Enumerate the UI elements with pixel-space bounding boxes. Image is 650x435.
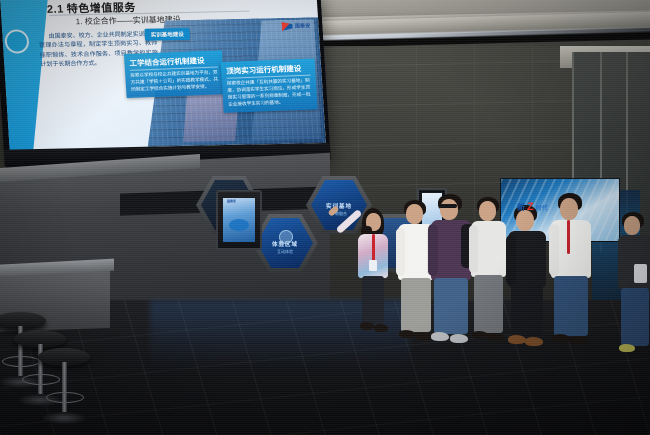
slide-card-title: 工学结合运行机制建设 (129, 55, 218, 71)
shoe (450, 334, 468, 343)
head (560, 198, 578, 220)
side-led-logo-suffix: 时代 (536, 203, 548, 212)
arm (549, 224, 559, 276)
side-led-logo: 新 Z 时代 (517, 201, 548, 213)
shoe (525, 337, 543, 346)
flag-icon (282, 22, 294, 31)
hex-panel-label: 实训基地 (311, 202, 367, 210)
head (624, 216, 640, 235)
shoe (552, 334, 570, 343)
shoe (360, 322, 374, 330)
head (516, 210, 534, 231)
shoe (399, 330, 415, 338)
head (406, 204, 423, 224)
slide-logo-text: 国泰安 (295, 22, 311, 29)
slide-tag-pill: 实训基地建设 (144, 28, 190, 41)
slide-card-gongxue: 工学结合运行机制建设 探索以学校与校企共建实训基地为平台，双方共建「学院＋公司」… (124, 50, 225, 97)
legs (621, 288, 649, 346)
shoe (508, 335, 526, 344)
legs (362, 276, 384, 324)
legs (474, 275, 503, 333)
shoe (472, 331, 488, 339)
side-led-logo-prefix: 新 (517, 202, 525, 213)
shoe (374, 324, 388, 332)
arm (506, 235, 516, 285)
arm (469, 225, 478, 273)
shoe (619, 344, 635, 352)
kiosk-display[interactable]: 国泰安 (216, 190, 262, 250)
badge (369, 260, 377, 271)
lanyard (567, 220, 570, 254)
legs (434, 278, 468, 334)
screenshot-root: 2.1特色增值服务 1. 校企合作——实训基地建设 由国泰安、校方、企业共同制定… (0, 0, 650, 435)
arm (396, 228, 405, 276)
slide-card-body: 探索校企共建「互利共赢的实习基地」制度，协调落实学生实习岗位，形成学生顶岗实习管… (227, 78, 313, 109)
arm (428, 224, 438, 276)
legs (401, 278, 431, 332)
slide-card-title: 顶岗实习运行机制建设 (226, 63, 311, 79)
presentation-slide: 2.1特色增值服务 1. 校企合作——实训基地建设 由国泰安、校方、企业共同制定… (0, 0, 326, 152)
slide-left-accent-bar (0, 0, 48, 152)
slide-card-dinggang: 顶岗实习运行机制建设 探索校企共建「互利共赢的实习基地」制度，协调落实学生实习岗… (221, 58, 318, 112)
slide-logo: 国泰安 (282, 21, 311, 31)
slide-card-body: 探索以学校与校企共建实训基地为平台，双方共建「学院＋公司」的实践教学模式，共同制… (130, 69, 219, 93)
shoe (488, 333, 504, 341)
shoe (431, 332, 449, 341)
side-led-logo-accent: Z (527, 201, 534, 213)
lanyard (372, 234, 375, 262)
kiosk-screen-graphic (229, 219, 249, 231)
glasses-icon (439, 204, 457, 208)
led-presentation-screen[interactable]: 2.1特色增值服务 1. 校企合作——实训基地建设 由国泰安、校方、企业共同制定… (0, 0, 331, 168)
hex-panel-label: 体验区域 (257, 240, 313, 248)
head (440, 199, 458, 220)
shoe (570, 336, 588, 345)
kiosk-logo-text: 国泰安 (227, 199, 236, 203)
hex-panel-sub: 互动体验 (257, 249, 313, 255)
legs (511, 285, 543, 337)
kiosk-screen[interactable]: 国泰安 (223, 198, 255, 242)
shoe (416, 332, 432, 340)
head (479, 201, 496, 221)
legs (554, 276, 588, 336)
phone-icon (634, 264, 647, 283)
